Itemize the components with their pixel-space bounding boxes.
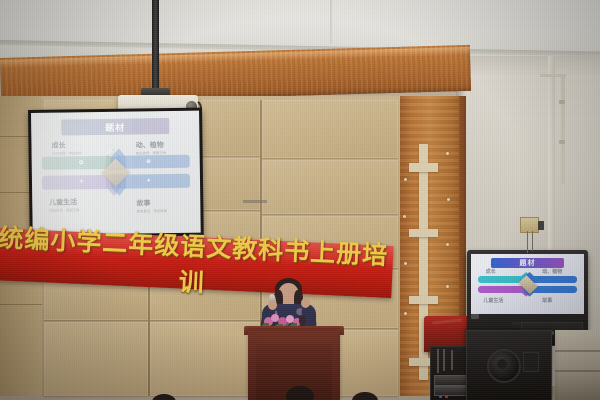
right-wall-upper-band [456, 56, 600, 78]
decor-strip-cross [409, 163, 438, 172]
monitor-label-top-left: 成长 [486, 268, 496, 275]
audience-head [286, 386, 314, 400]
monitor-screen: 题材 成长 动、植物 儿童生活 [471, 254, 584, 314]
conduit-pipe [561, 74, 565, 184]
conference-hall-photo: 题材 ✿ ❋ ☀ [0, 0, 600, 400]
projector-label [243, 200, 267, 203]
monitor-arm-top-right [528, 276, 578, 283]
slide-label-bottom-left: 儿童生活 [49, 198, 79, 208]
conduit-clip [559, 140, 565, 144]
slide-title: 题材 [105, 120, 125, 133]
wall-panel [262, 160, 398, 214]
side-cabinet [555, 330, 600, 400]
slide-label-bottom-right: 故事 [136, 198, 166, 208]
monitor-label-top-right: 动、植物 [542, 268, 562, 275]
monitor-label-bottom-left: 儿童生活 [483, 297, 503, 304]
red-banner: 统编小学二年级语文教科书上册培训 [0, 228, 394, 298]
slide-node-glyph-bottom-left: ☀ [79, 179, 84, 185]
monitor-label-bottom-right: 故事 [542, 297, 552, 304]
slide-label-top-right: 动、植物 [136, 140, 166, 150]
slide-sublabel-bottom-left: 校园生活 · 家庭日常 [49, 208, 79, 213]
monitor-slide-title: 题材 [519, 258, 535, 268]
slide-node-glyph-top-right: ❋ [146, 159, 151, 165]
wall-panel [44, 322, 148, 396]
decor-strip-cross [409, 296, 438, 304]
projection-screen: 题材 ✿ ❋ ☀ [28, 108, 204, 238]
slide-sublabel-bottom-right: 寓言童话 · 传统故事 [137, 208, 167, 213]
slide-node-glyph-top-left: ✿ [79, 160, 84, 166]
ceiling-seam-vertical [330, 0, 332, 44]
slide-sublabel-top-right: 亲近自然 · 观察万物 [136, 150, 166, 155]
monitor-arm-bottom-left [478, 286, 528, 293]
slide-sublabel-top-left: 认识自我 · 学会成长 [52, 150, 82, 155]
slide-label-top-left: 成长 [52, 140, 82, 150]
presenter-left-hand [268, 300, 277, 310]
wall-outlet-adapter [538, 221, 544, 230]
projector-mount-pole [152, 0, 159, 92]
monitor-brand-logo [471, 314, 479, 319]
wall-outlet[interactable] [520, 217, 539, 233]
presenter-right-hand [301, 298, 310, 308]
speaker-woofer-center [497, 359, 507, 369]
conduit-clip [559, 100, 565, 104]
decor-strip-cross [409, 229, 438, 237]
wall-panel [262, 100, 398, 158]
slide-node-glyph-bottom-right: ✦ [146, 178, 151, 184]
speaker-tweeter-icon [523, 352, 539, 372]
projector-vent [242, 205, 272, 209]
projected-slide: 题材 ✿ ❋ ☀ [31, 111, 201, 235]
monitor-slide: 题材 成长 动、植物 儿童生活 [471, 254, 584, 314]
